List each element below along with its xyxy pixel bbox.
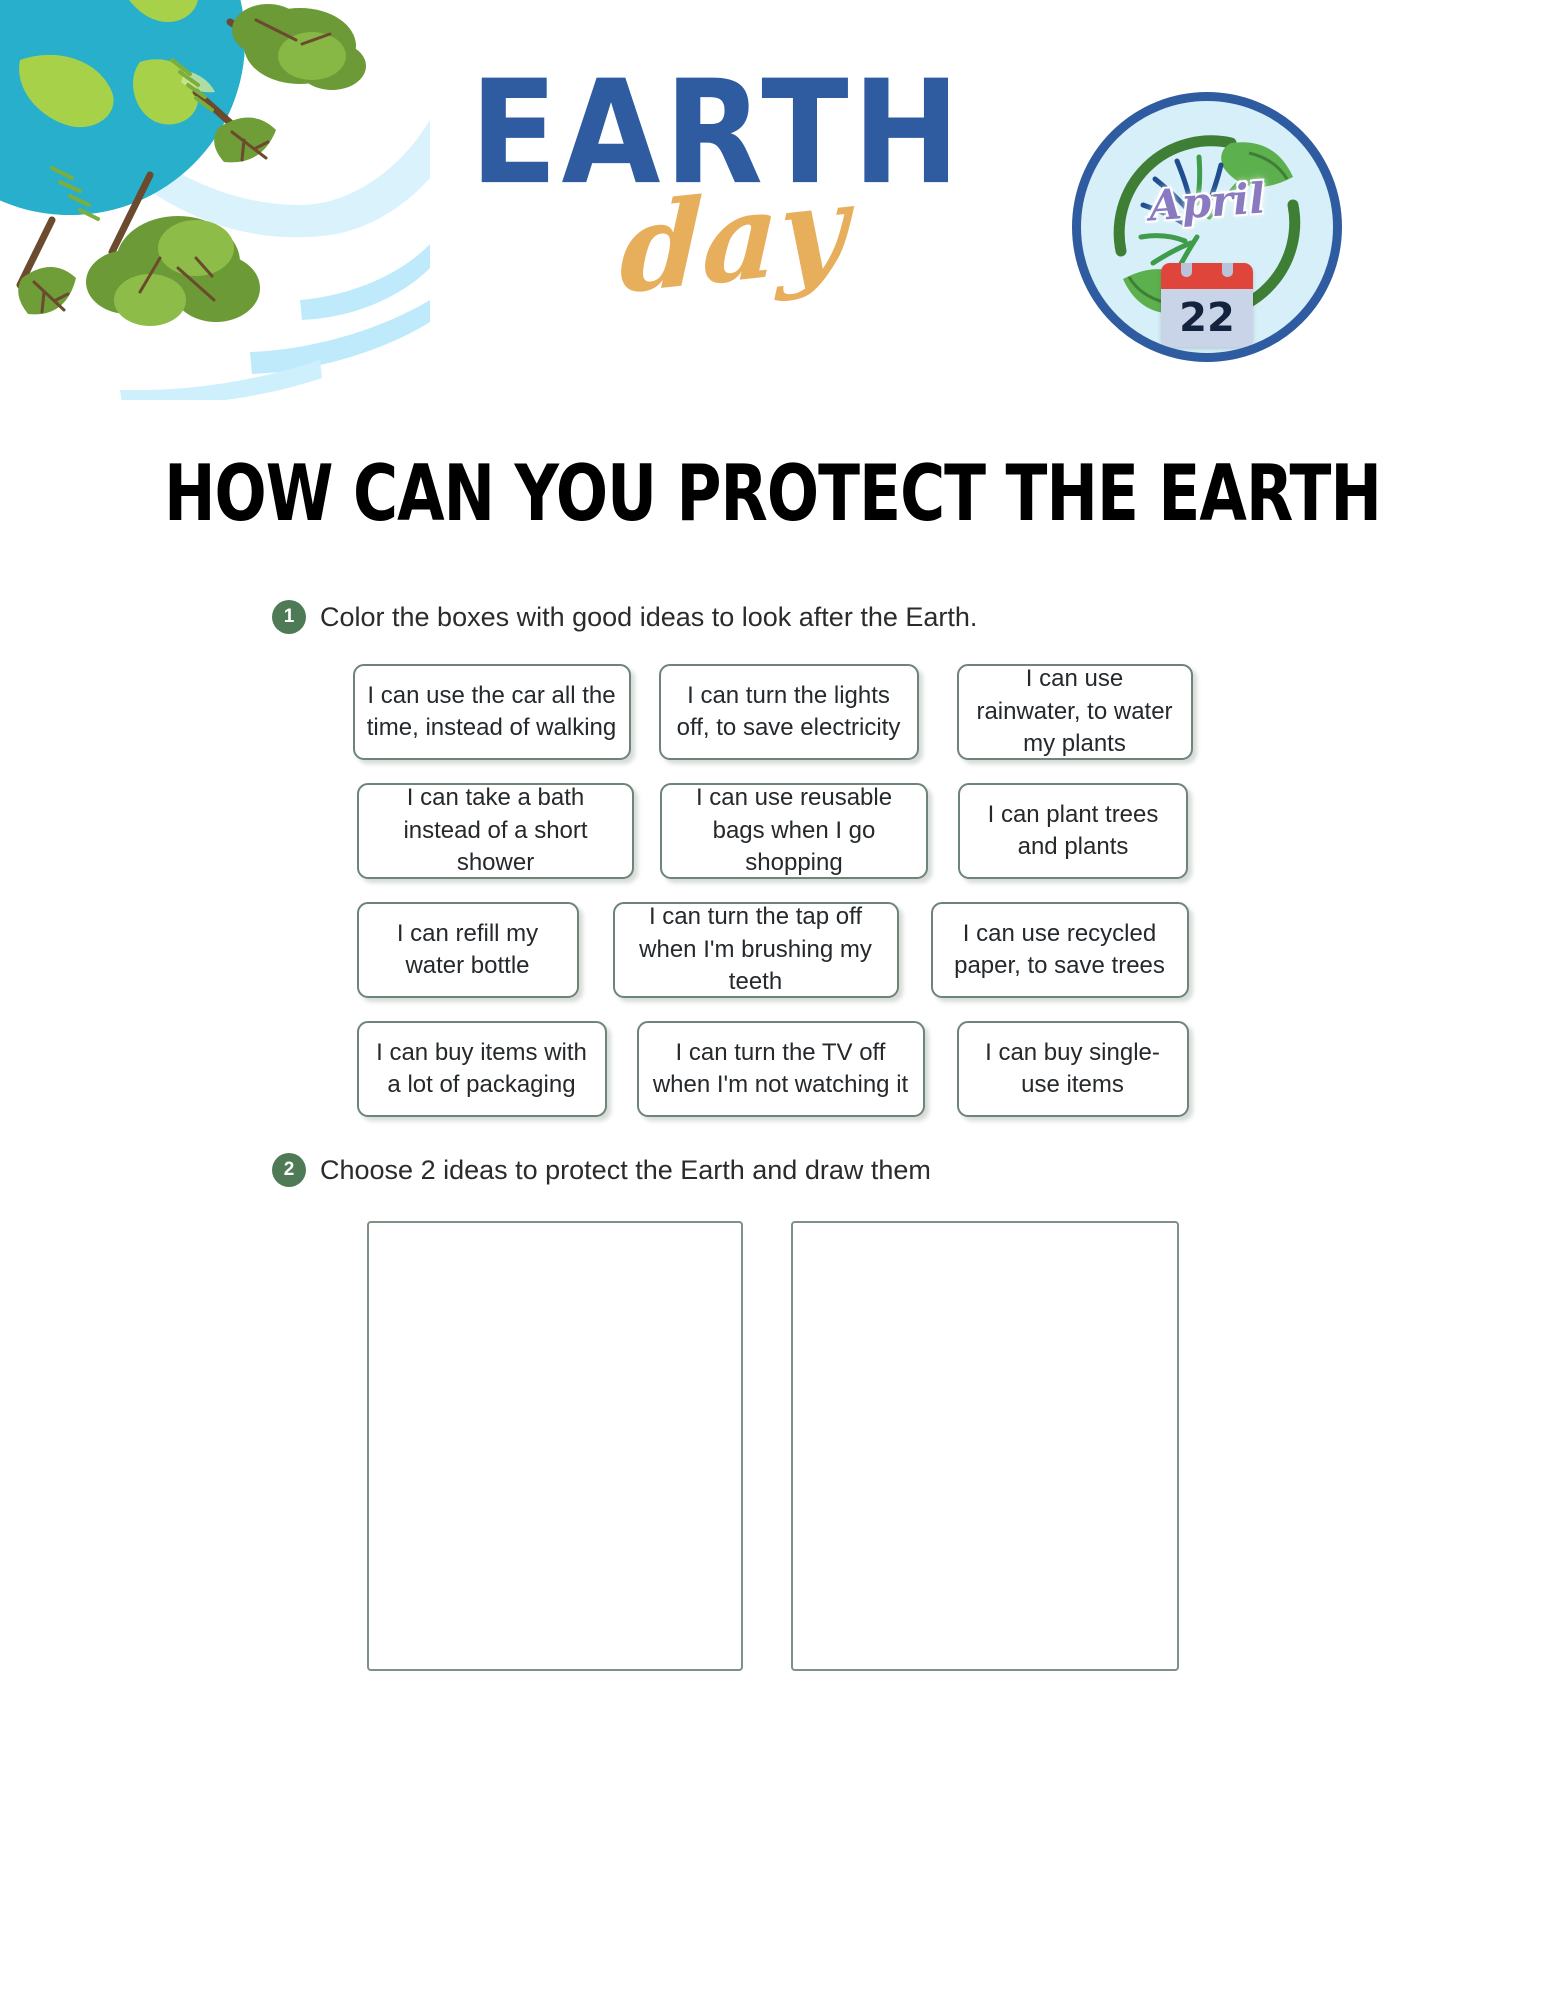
instruction-1: 1 Color the boxes with good ideas to loo… <box>272 600 1545 634</box>
logo-day-text: day <box>619 168 849 311</box>
page-title: HOW CAN YOU PROTECT THE EARTH <box>54 448 1491 539</box>
step-number-2: 2 <box>272 1153 306 1187</box>
instruction-2: 2 Choose 2 ideas to protect the Earth an… <box>272 1153 1545 1187</box>
earth-day-logo: EARTH day <box>470 60 1030 360</box>
idea-box[interactable]: I can buy items with a lot of packaging <box>357 1021 607 1117</box>
idea-box[interactable]: I can use rainwater, to water my plants <box>957 664 1193 760</box>
calendar-icon: 22 <box>1161 263 1253 347</box>
idea-row: I can use the car all the time, instead … <box>0 664 1545 760</box>
drawing-area-1[interactable] <box>367 1221 743 1671</box>
april-22-badge: April 22 <box>1072 92 1342 362</box>
worksheet-page: EARTH day <box>0 0 1545 2000</box>
idea-row: I can take a bath instead of a short sho… <box>0 783 1545 879</box>
idea-box[interactable]: I can take a bath instead of a short sho… <box>357 783 634 879</box>
earth-illustration <box>0 0 430 400</box>
badge-month-label: April <box>1147 173 1266 230</box>
idea-box[interactable]: I can buy single-use items <box>957 1021 1189 1117</box>
instruction-1-text: Color the boxes with good ideas to look … <box>320 602 977 633</box>
idea-box[interactable]: I can turn the lights off, to save elect… <box>659 664 919 760</box>
worksheet-body: 1 Color the boxes with good ideas to loo… <box>0 600 1545 1671</box>
idea-box[interactable]: I can turn the tap off when I'm brushing… <box>613 902 899 998</box>
instruction-2-text: Choose 2 ideas to protect the Earth and … <box>320 1155 931 1186</box>
idea-box[interactable]: I can refill my water bottle <box>357 902 579 998</box>
badge-day-number: 22 <box>1161 289 1253 347</box>
idea-box[interactable]: I can use the car all the time, instead … <box>353 664 631 760</box>
idea-row: I can refill my water bottle I can turn … <box>0 902 1545 998</box>
idea-row: I can buy items with a lot of packaging … <box>0 1021 1545 1117</box>
calendar-ring-right <box>1222 263 1233 277</box>
idea-box[interactable]: I can plant trees and plants <box>958 783 1188 879</box>
idea-box[interactable]: I can use recycled paper, to save trees <box>931 902 1189 998</box>
step-number-1: 1 <box>272 600 306 634</box>
calendar-ring-left <box>1181 263 1192 277</box>
calendar-top-bar <box>1161 263 1253 289</box>
idea-box[interactable]: I can use reusable bags when I go shoppi… <box>660 783 928 879</box>
idea-box-grid: I can use the car all the time, instead … <box>0 664 1545 1117</box>
drawing-area-2[interactable] <box>791 1221 1179 1671</box>
idea-box[interactable]: I can turn the TV off when I'm not watch… <box>637 1021 925 1117</box>
badge-inner: April 22 <box>1081 101 1333 353</box>
drawing-areas <box>0 1221 1545 1671</box>
